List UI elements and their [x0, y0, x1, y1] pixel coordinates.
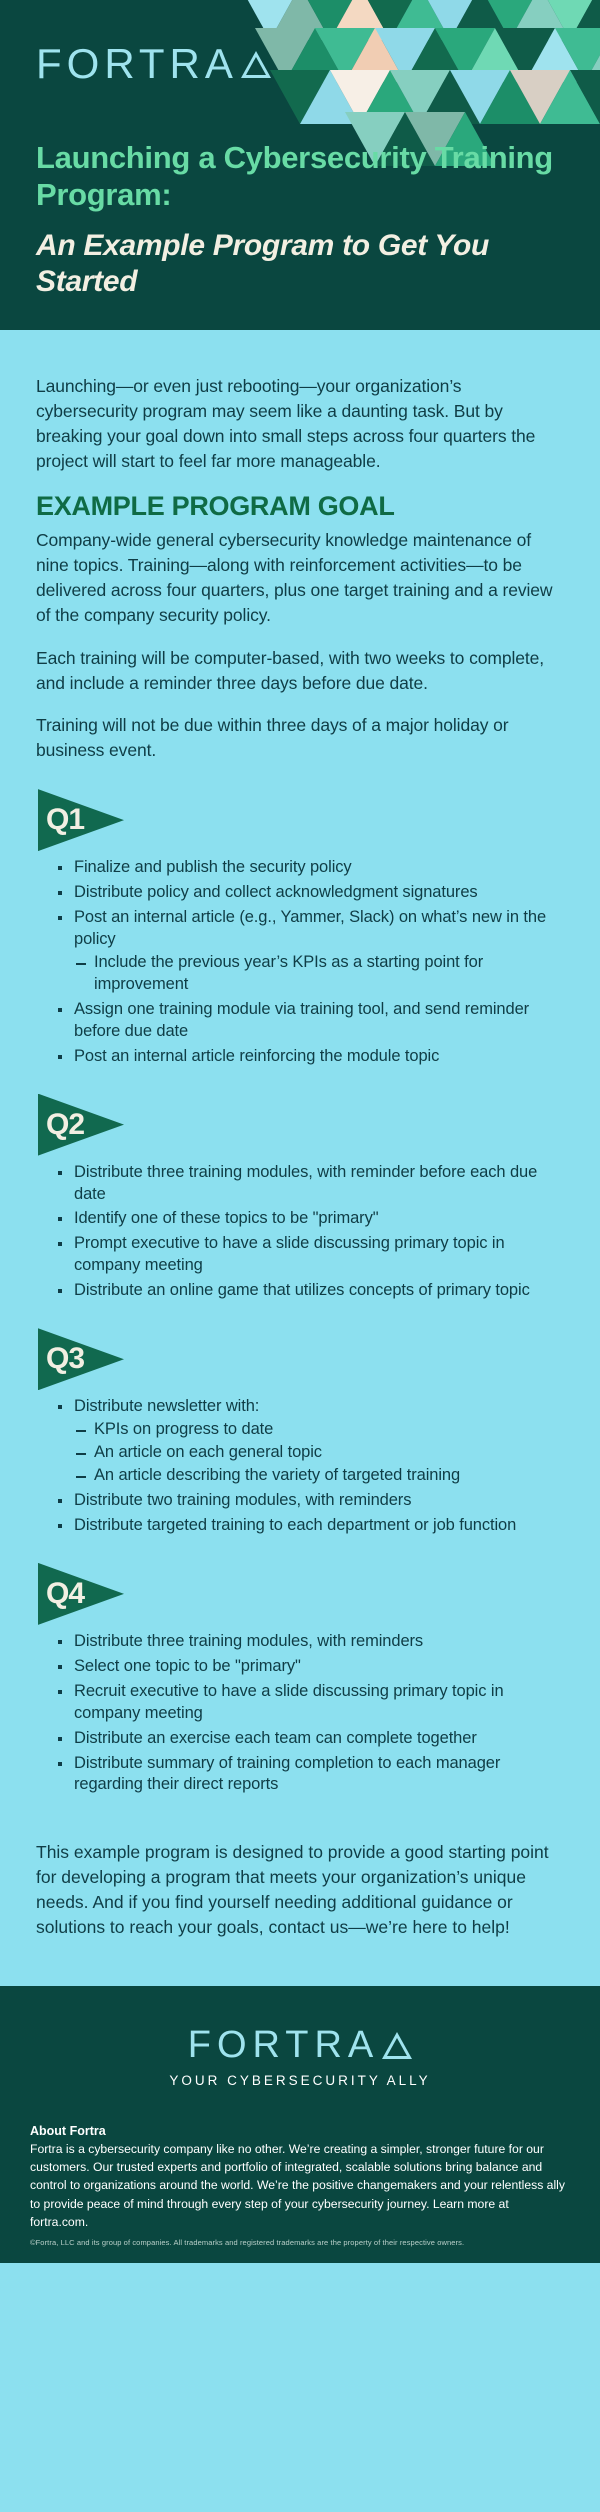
sub-list-item: An article describing the variety of tar…	[74, 1465, 564, 1487]
triangle-shape-icon	[570, 70, 600, 124]
logo-wordmark: FORTRA	[36, 40, 238, 88]
list-item-text: Distribute an online game that utilizes …	[74, 1281, 530, 1299]
sub-list-item-text: Include the previous year’s KPIs as a st…	[94, 953, 483, 993]
list-item: Distribute summary of training completio…	[54, 1753, 564, 1797]
quarter-block-q1: Q1Finalize and publish the security poli…	[36, 789, 564, 1067]
list-item: Post an internal article reinforcing the…	[54, 1046, 564, 1068]
list-item: Assign one training module via training …	[54, 999, 564, 1043]
list-item: Distribute newsletter with:KPIs on progr…	[54, 1396, 564, 1487]
goal-paragraph-2: Each training will be computer-based, wi…	[36, 646, 564, 696]
list-item-text: Distribute three training modules, with …	[74, 1632, 423, 1650]
intro-paragraph: Launching—or even just rebooting—your or…	[36, 374, 564, 473]
closing-paragraph: This example program is designed to prov…	[36, 1840, 564, 1939]
quarter-block-q2: Q2Distribute three training modules, wit…	[36, 1094, 564, 1303]
fortra-delta-icon	[241, 51, 271, 78]
list-item-text: Distribute an exercise each team can com…	[74, 1729, 477, 1747]
quarter-task-list: Finalize and publish the security policy…	[54, 857, 564, 1067]
list-item-text: Distribute targeted training to each dep…	[74, 1516, 516, 1534]
goal-paragraph-3: Training will not be due within three da…	[36, 713, 564, 763]
page-title: Launching a Cybersecurity Training Progr…	[36, 140, 566, 213]
list-item-text: Assign one training module via training …	[74, 1000, 529, 1040]
list-item-text: Prompt executive to have a slide discuss…	[74, 1234, 505, 1274]
list-item: Identify one of these topics to be "prim…	[54, 1208, 564, 1230]
quarter-task-list: Distribute newsletter with:KPIs on progr…	[54, 1396, 564, 1537]
list-item: Select one topic to be "primary"	[54, 1656, 564, 1678]
quarter-label: Q4	[46, 1577, 84, 1611]
fortra-logo-header: FORTRA	[36, 40, 271, 88]
quarter-label: Q2	[46, 1108, 84, 1142]
fortra-logo-footer: FORTRA	[30, 2024, 570, 2067]
list-item: Distribute two training modules, with re…	[54, 1490, 564, 1512]
about-heading: About Fortra	[30, 2124, 570, 2138]
list-item: Prompt executive to have a slide discuss…	[54, 1233, 564, 1277]
list-item-text: Post an internal article reinforcing the…	[74, 1047, 439, 1065]
about-body-text: Fortra is a cybersecurity company like n…	[30, 2140, 570, 2231]
list-item: Recruit executive to have a slide discus…	[54, 1681, 564, 1725]
page-subtitle: An Example Program to Get You Started	[36, 228, 556, 300]
quarter-flag-icon-q2: Q2	[38, 1094, 124, 1156]
quarters-list: Q1Finalize and publish the security poli…	[36, 789, 564, 1796]
sub-list-item: KPIs on progress to date	[74, 1419, 564, 1441]
quarter-flag-icon-q1: Q1	[38, 789, 124, 851]
sub-task-list: KPIs on progress to dateAn article on ea…	[74, 1419, 564, 1487]
list-item-text: Post an internal article (e.g., Yammer, …	[74, 908, 546, 948]
quarter-block-q4: Q4Distribute three training modules, wit…	[36, 1563, 564, 1797]
list-item: Distribute targeted training to each dep…	[54, 1515, 564, 1537]
sub-task-list: Include the previous year’s KPIs as a st…	[74, 952, 564, 996]
quarter-label: Q3	[46, 1342, 84, 1376]
list-item-text: Recruit executive to have a slide discus…	[74, 1682, 504, 1722]
list-item: Distribute three training modules, with …	[54, 1162, 564, 1206]
goal-paragraph-1: Company-wide general cybersecurity knowl…	[36, 528, 564, 627]
sub-list-item-text: An article on each general topic	[94, 1443, 322, 1461]
list-item-text: Select one topic to be "primary"	[74, 1657, 301, 1675]
header-banner: FORTRA Launching a Cybersecurity Trainin…	[0, 0, 600, 330]
main-content: Launching—or even just rebooting—your or…	[0, 330, 600, 1986]
list-item: Distribute three training modules, with …	[54, 1631, 564, 1653]
list-item-text: Distribute newsletter with:	[74, 1397, 259, 1415]
sub-list-item: Include the previous year’s KPIs as a st…	[74, 952, 564, 996]
list-item: Finalize and publish the security policy	[54, 857, 564, 879]
list-item: Distribute an online game that utilizes …	[54, 1280, 564, 1302]
section-heading-program-goal: EXAMPLE PROGRAM GOAL	[36, 491, 564, 522]
list-item-text: Distribute summary of training completio…	[74, 1754, 500, 1794]
list-item-text: Identify one of these topics to be "prim…	[74, 1209, 378, 1227]
list-item-text: Finalize and publish the security policy	[74, 858, 352, 876]
fortra-delta-icon-footer	[382, 2032, 412, 2059]
list-item-text: Distribute two training modules, with re…	[74, 1491, 411, 1509]
quarter-flag-icon-q4: Q4	[38, 1563, 124, 1625]
quarter-block-q3: Q3Distribute newsletter with:KPIs on pro…	[36, 1328, 564, 1537]
quarter-task-list: Distribute three training modules, with …	[54, 1631, 564, 1797]
list-item: Distribute policy and collect acknowledg…	[54, 882, 564, 904]
list-item-text: Distribute three training modules, with …	[74, 1163, 537, 1203]
footer: FORTRA YOUR CYBERSECURITY ALLY About For…	[0, 1986, 600, 2263]
sub-list-item-text: An article describing the variety of tar…	[94, 1466, 460, 1484]
footer-logo-wordmark: FORTRA	[188, 2024, 380, 2067]
brand-tagline: YOUR CYBERSECURITY ALLY	[30, 2073, 570, 2088]
legal-notice: ©Fortra, LLC and its group of companies.…	[30, 2238, 570, 2247]
list-item-text: Distribute policy and collect acknowledg…	[74, 883, 478, 901]
quarter-flag-icon-q3: Q3	[38, 1328, 124, 1390]
sub-list-item: An article on each general topic	[74, 1442, 564, 1464]
sub-list-item-text: KPIs on progress to date	[94, 1420, 273, 1438]
quarter-label: Q1	[46, 803, 84, 837]
list-item: Post an internal article (e.g., Yammer, …	[54, 907, 564, 996]
quarter-task-list: Distribute three training modules, with …	[54, 1162, 564, 1303]
list-item: Distribute an exercise each team can com…	[54, 1728, 564, 1750]
